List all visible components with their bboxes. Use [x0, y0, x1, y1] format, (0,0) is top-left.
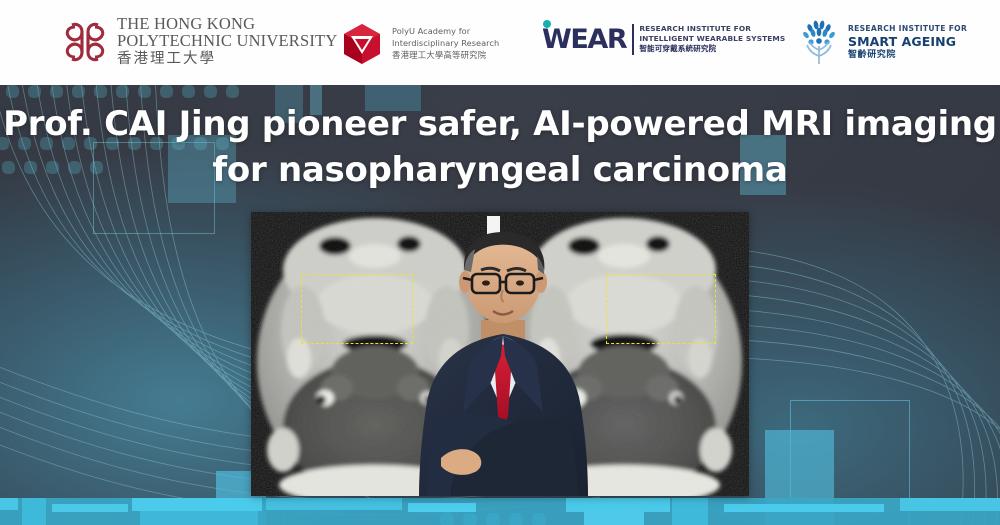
logo-research-institute-for-smart-ageing: RESEARCH INSTITUTE FOR SMART AGEING 智齡研究… [800, 20, 967, 66]
iwear-chinese-name: 智能可穿戴系統研究院 [639, 44, 785, 54]
bottom-strip-rect-8 [566, 498, 670, 512]
paircube-icon [340, 22, 384, 66]
bottom-strip-rect-7 [408, 503, 476, 512]
ria-line-2: SMART AGEING [848, 34, 967, 51]
iwear-wordmark: WEAR [542, 26, 626, 53]
poster-canvas: Prof. CAI Jing pioneer safer, AI-powered… [0, 0, 1000, 525]
roi-box-right [606, 274, 716, 344]
smart-ageing-tree-icon [800, 20, 840, 66]
polyu-line-2: POLYTECHNIC UNIVERSITY [117, 33, 337, 50]
pair-line-1: PolyU Academy for [392, 26, 499, 38]
iwear-line-1: RESEARCH INSTITUTE FOR [639, 24, 785, 34]
ria-line-1: RESEARCH INSTITUTE FOR [848, 24, 967, 34]
pair-chinese-name: 香港理工大學高等研究院 [392, 50, 499, 62]
ria-chinese-name: 智齡研究院 [848, 50, 967, 62]
bottom-strip-rect-12 [900, 498, 1000, 511]
bottom-strip-rect-6 [266, 498, 402, 510]
bottom-strip-rect-9 [584, 511, 644, 525]
bottom-strip-rect-4 [132, 498, 262, 511]
iwear-dot-icon [543, 20, 551, 28]
logo-hong-kong-polytechnic-university: THE HONG KONG POLYTECHNIC UNIVERSITY 香港理… [62, 16, 337, 68]
roi-box-left [301, 274, 413, 344]
logo-iwear-research-institute: WEAR RESEARCH INSTITUTE FOR INTELLIGENT … [542, 24, 785, 55]
logo-header-bar: THE HONG KONG POLYTECHNIC UNIVERSITY 香港理… [0, 0, 1000, 85]
mri-comparison-panel [251, 212, 749, 496]
polyu-chinese-name: 香港理工大學 [117, 51, 337, 68]
bottom-strip-rect-3 [52, 504, 128, 512]
iwear-line-2: INTELLIGENT WEARABLE SYSTEMS [639, 34, 785, 44]
professor-portrait [411, 216, 596, 496]
bottom-strip-rect-11 [724, 504, 884, 512]
headline-line-2: for nasopharyngeal carcinoma [0, 147, 1000, 193]
bottom-strip-rect-10 [672, 498, 708, 525]
polyu-knot-icon [62, 20, 108, 64]
poster-headline: Prof. CAI Jing pioneer safer, AI-powered… [0, 101, 1000, 193]
iwear-wordmark-text: WEAR [542, 24, 626, 55]
bottom-strip-rect-2 [22, 498, 46, 525]
pair-line-2: Interdisciplinary Research [392, 38, 499, 50]
bottom-strip-rect-1 [0, 498, 18, 510]
bottom-strip-rect-5 [140, 511, 258, 525]
headline-line-1: Prof. CAI Jing pioneer safer, AI-powered… [0, 101, 1000, 147]
logo-polyu-academy-for-interdisciplinary-research: PolyU Academy for Interdisciplinary Rese… [340, 22, 499, 66]
